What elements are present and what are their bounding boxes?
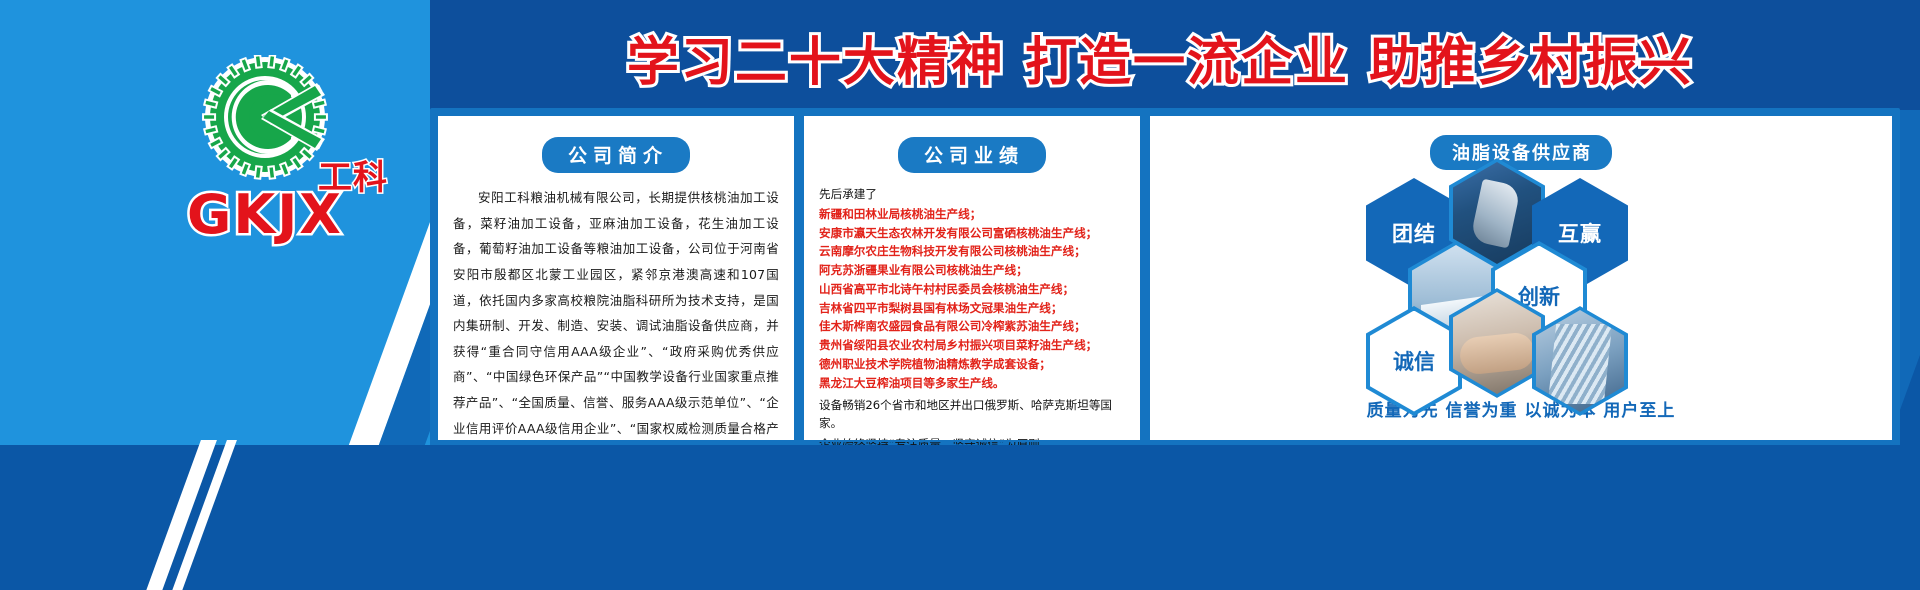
panel-supplier: 油脂设备供应商 团结 互赢 创新 诚信 质量为先 信誉为重 以诚为本 用户至上	[1148, 114, 1894, 442]
list-item: 贵州省绥阳县农业农村局乡村振兴项目菜籽油生产线；	[819, 336, 1125, 355]
panel-title-supplier: 油脂设备供应商	[1430, 135, 1612, 170]
supplier-slogan: 质量为先 信誉为重 以诚为本 用户至上	[1165, 396, 1877, 421]
list-item: 云南摩尔农庄生物科技开发有限公司核桃油生产线；	[819, 242, 1125, 261]
banner-title: 学习二十大精神 打造一流企业 助推乡村振兴	[430, 20, 1890, 95]
performance-list: 新疆和田林业局核桃油生产线； 安康市瀛天生态农林开发有限公司富硒核桃油生产线； …	[819, 205, 1125, 393]
list-item: 安康市瀛天生态农林开发有限公司富硒核桃油生产线；	[819, 224, 1125, 243]
performance-tail-1: 设备畅销26个省市和地区并出口俄罗斯、哈萨克斯坦等国家。	[819, 396, 1125, 434]
panel-company-intro: 公司简介 安阳工科粮油机械有限公司，长期提供核桃油加工设备，菜籽油加工设备，亚麻…	[436, 114, 796, 442]
panel-company-performance: 公司业绩 先后承建了 新疆和田林业局核桃油生产线； 安康市瀛天生态农林开发有限公…	[802, 114, 1142, 442]
company-logo: 工科 GKJX	[130, 55, 400, 245]
hex-label: 诚信	[1370, 311, 1458, 412]
hex-label: 团结	[1392, 218, 1436, 248]
panel-title-intro: 公司简介	[542, 137, 690, 173]
panel-title-performance: 公司业绩	[898, 137, 1046, 173]
list-item: 德州职业技术学院植物油精炼教学成套设备；	[819, 355, 1125, 374]
list-item: 阿克苏浙疆果业有限公司核桃油生产线；	[819, 261, 1125, 280]
title-banner: 学习二十大精神 打造一流企业 助推乡村振兴	[430, 0, 1920, 110]
company-intro-text: 安阳工科粮油机械有限公司，长期提供核桃油加工设备，菜籽油加工设备，亚麻油加工设备…	[453, 185, 779, 467]
list-item: 新疆和田林业局核桃油生产线；	[819, 205, 1125, 224]
list-item: 吉林省四平市梨树县国有林场文冠果油生产线；	[819, 299, 1125, 318]
content-frame: 公司简介 安阳工科粮油机械有限公司，长期提供核桃油加工设备，菜籽油加工设备，亚麻…	[430, 108, 1900, 448]
hex-label: 互赢	[1558, 218, 1602, 248]
hexagon-cluster: 团结 互赢 创新 诚信	[1356, 176, 1686, 386]
panels-row: 公司简介 安阳工科粮油机械有限公司，长期提供核桃油加工设备，菜籽油加工设备，亚麻…	[436, 114, 1894, 442]
list-item: 黑龙江大豆榨油项目等多家生产线。	[819, 374, 1125, 393]
bottom-band	[0, 445, 1920, 590]
list-item: 佳木斯桦南农盛园食品有限公司冷榨紫苏油生产线；	[819, 317, 1125, 336]
logo-english-text: GKJX	[130, 183, 400, 246]
list-item: 山西省高平市北诗午村村民委员会核桃油生产线；	[819, 280, 1125, 299]
poster-board: 工科 GKJX 学习二十大精神 打造一流企业 助推乡村振兴 公司简介 安阳工科粮…	[0, 0, 1920, 590]
performance-lead: 先后承建了	[819, 185, 1125, 204]
